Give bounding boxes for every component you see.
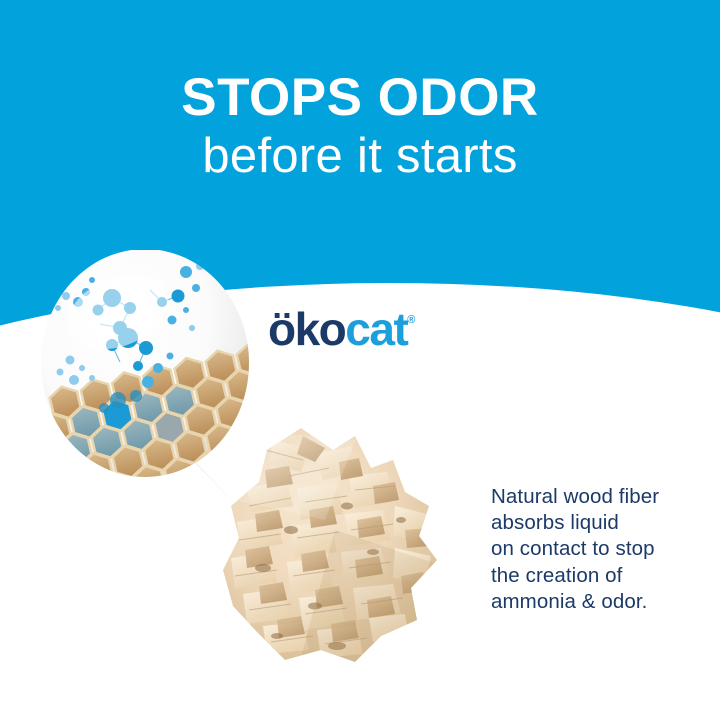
logo-text-cat: cat [345, 303, 407, 355]
body-copy-line-3: on contact to stop [491, 536, 706, 562]
body-copy-line-4: the creation of [491, 563, 706, 589]
headline-secondary: before it starts [0, 130, 720, 183]
headline-primary: STOPS ODOR [0, 70, 720, 126]
logo-text-oko: öko [268, 303, 345, 355]
body-copy-line-2: absorbs liquid [491, 510, 706, 536]
wood-fiber-clump [205, 410, 475, 680]
body-copy-block: Natural wood fiber absorbs liquid on con… [491, 484, 706, 615]
headline-block: STOPS ODOR before it starts [0, 0, 720, 183]
body-copy-line-1: Natural wood fiber [491, 484, 706, 510]
body-copy-line-5: ammonia & odor. [491, 589, 706, 615]
brand-logo: ökocat® [268, 306, 415, 352]
clump-fiber-texture [231, 430, 455, 680]
logo-registered-mark: ® [407, 314, 415, 326]
ad-canvas: STOPS ODOR before it starts [0, 0, 720, 720]
